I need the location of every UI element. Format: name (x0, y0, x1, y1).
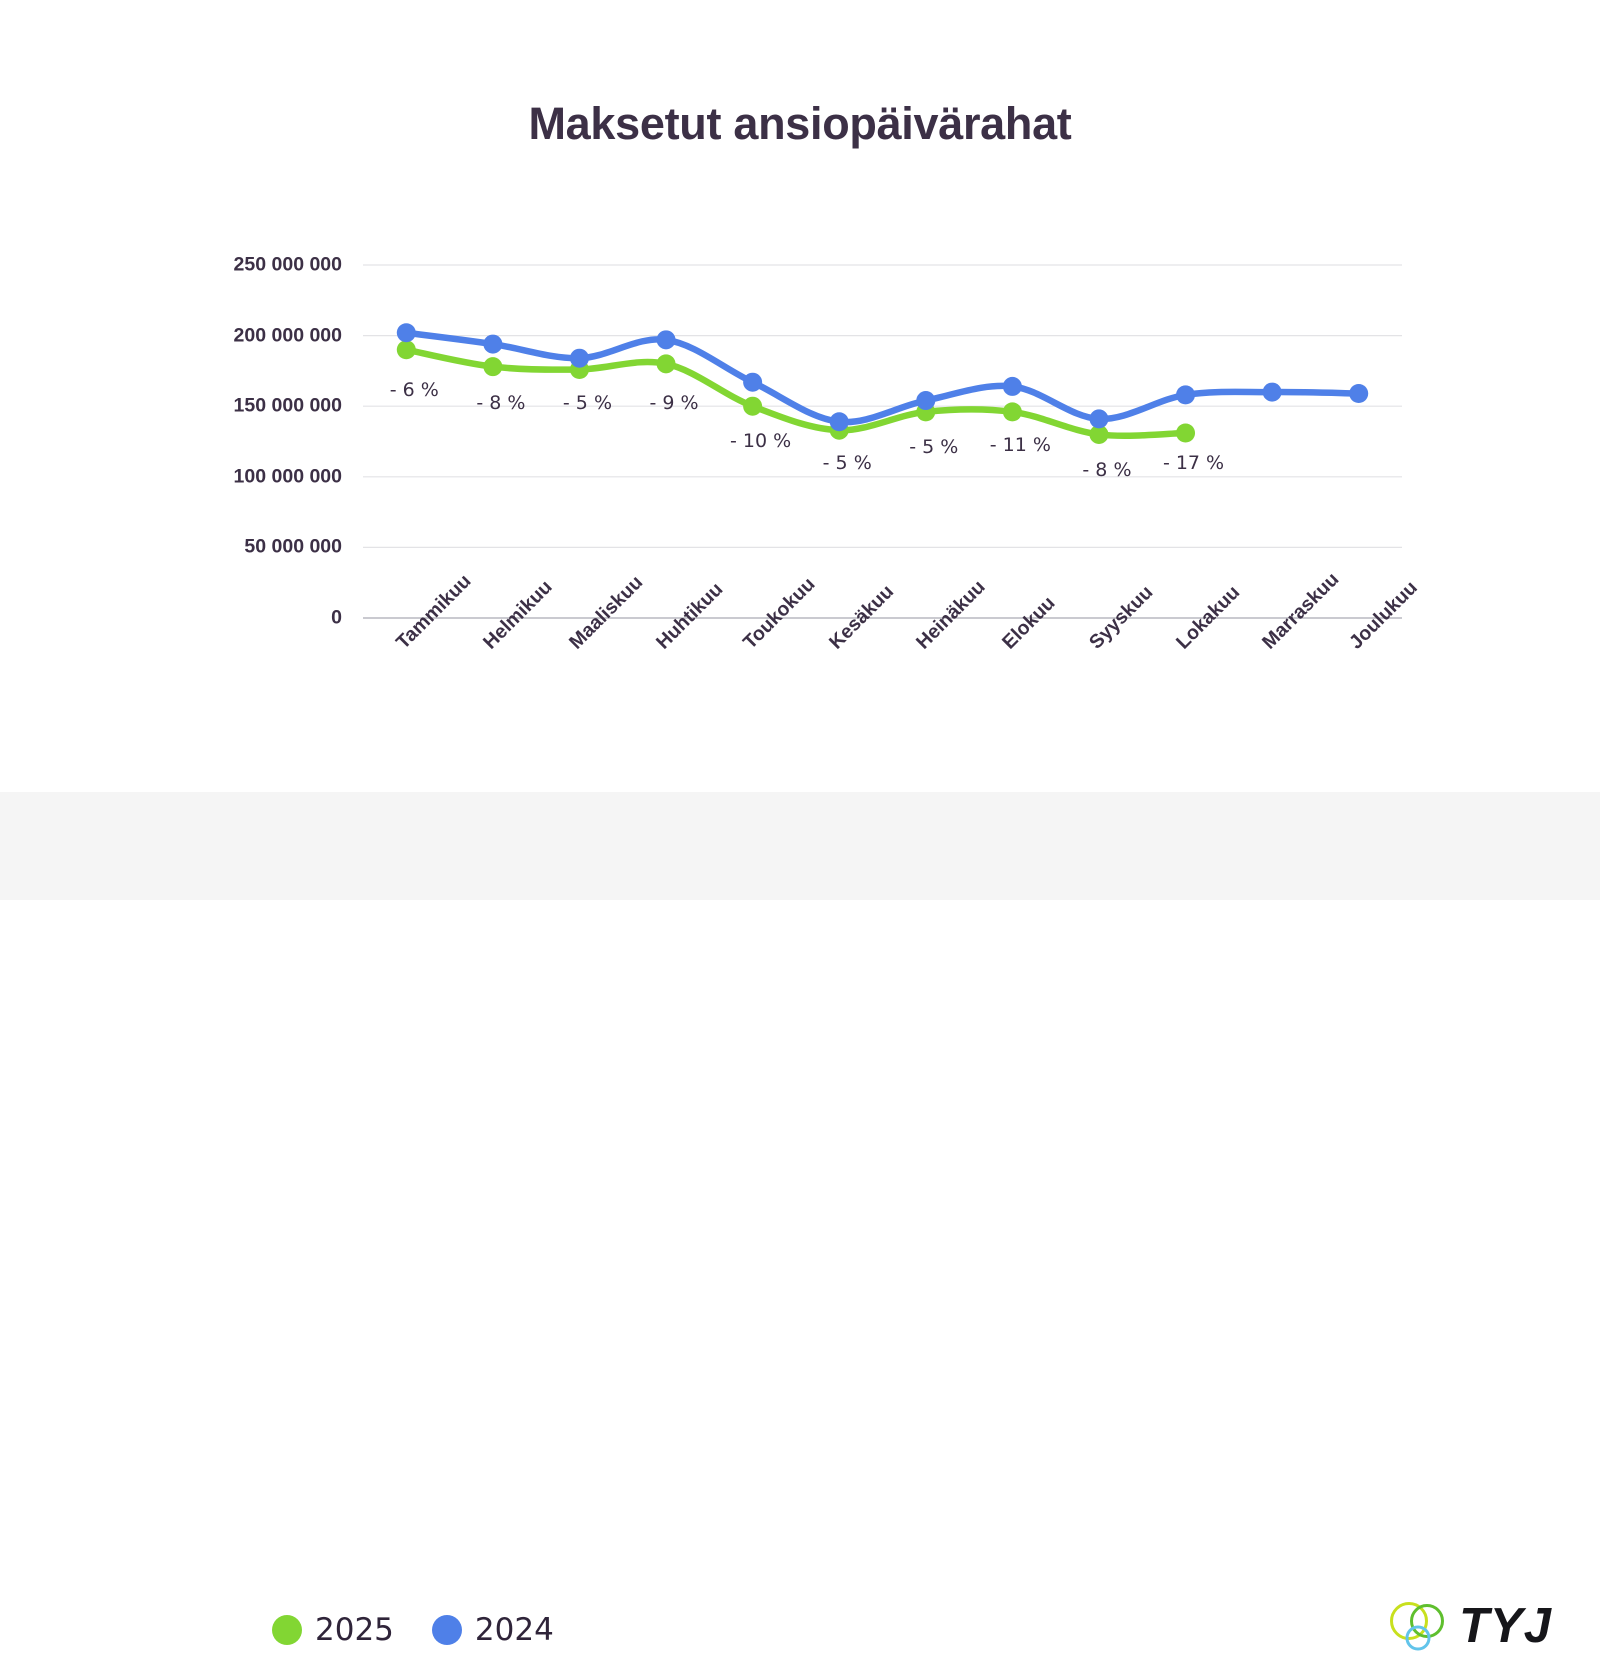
y-axis-tick-label: 150 000 000 (150, 395, 342, 418)
percent-change-label: - 11 % (990, 434, 1051, 456)
percent-change-label: - 8 % (476, 392, 525, 414)
data-point-marker[interactable] (1089, 409, 1108, 428)
y-axis-tick-label: 50 000 000 (150, 536, 342, 559)
percent-change-label: - 5 % (909, 436, 958, 458)
legend-swatch-circle-icon (432, 1615, 462, 1645)
data-point-marker[interactable] (830, 412, 849, 431)
percent-change-label: - 10 % (730, 430, 791, 452)
data-point-marker[interactable] (1003, 402, 1022, 421)
y-axis-tick-label: 100 000 000 (150, 465, 342, 488)
chart-legend: 20252024 (272, 1612, 576, 1648)
data-point-marker[interactable] (657, 354, 676, 373)
data-point-marker[interactable] (743, 373, 762, 392)
data-point-marker[interactable] (657, 330, 676, 349)
series-lines-group (406, 333, 1358, 436)
percent-change-label: - 6 % (390, 379, 439, 401)
percent-change-label: - 5 % (823, 452, 872, 474)
slide-canvas: Maksetut ansiopäivärahat 050 000 000100 … (0, 0, 1600, 900)
data-point-marker[interactable] (916, 391, 935, 410)
data-point-marker[interactable] (1176, 385, 1195, 404)
data-point-marker[interactable] (483, 357, 502, 376)
data-point-marker[interactable] (483, 335, 502, 354)
percent-change-label: - 5 % (563, 392, 612, 414)
percent-change-label: - 9 % (649, 392, 698, 414)
percent-change-label: - 8 % (1082, 459, 1131, 481)
data-point-marker[interactable] (397, 323, 416, 342)
legend-item-2024[interactable]: 2024 (432, 1612, 554, 1648)
data-point-marker[interactable] (397, 340, 416, 359)
logo-wordmark: TYJ (1459, 1598, 1552, 1654)
legend-swatch-circle-icon (272, 1615, 302, 1645)
three-overlapping-circles-icon (1387, 1598, 1451, 1654)
legend-label: 2024 (475, 1612, 554, 1648)
brand-logo: TYJ (1387, 1598, 1552, 1654)
data-point-marker[interactable] (570, 349, 589, 368)
chart-plot-area: 050 000 000100 000 000150 000 000200 000… (0, 0, 1600, 792)
legend-label: 2025 (315, 1612, 394, 1648)
y-axis-tick-label: 250 000 000 (150, 254, 342, 277)
y-axis-tick-label: 0 (150, 607, 342, 630)
footer-bar: 20252024 TYJ (0, 792, 1600, 900)
data-point-marker[interactable] (1176, 424, 1195, 443)
data-point-marker[interactable] (1349, 384, 1368, 403)
series-line-2024 (406, 333, 1358, 422)
data-point-marker[interactable] (1003, 377, 1022, 396)
legend-item-2025[interactable]: 2025 (272, 1612, 394, 1648)
percent-change-label: - 17 % (1163, 452, 1224, 474)
gridlines-group (363, 265, 1402, 618)
data-point-marker[interactable] (1263, 383, 1282, 402)
data-point-marker[interactable] (743, 397, 762, 416)
y-axis-tick-label: 200 000 000 (150, 324, 342, 347)
